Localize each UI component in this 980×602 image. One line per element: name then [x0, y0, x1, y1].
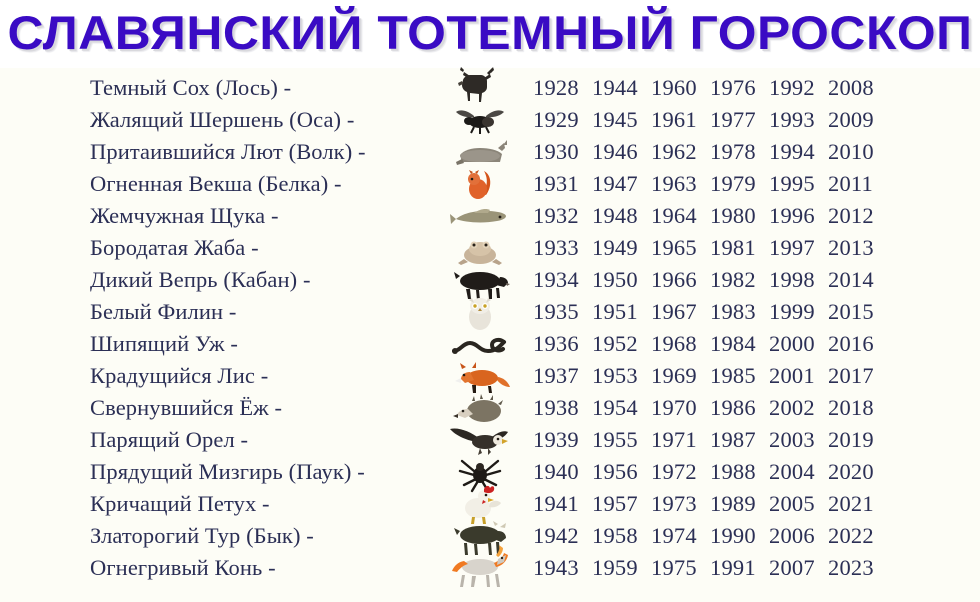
year-value: 1946 — [592, 136, 651, 167]
year-value: 2006 — [769, 520, 828, 551]
year-value: 2001 — [769, 360, 828, 391]
table-row: Жемчужная Щука -193219481964198019962012 — [0, 200, 980, 232]
year-value: 2009 — [828, 104, 887, 135]
year-value: 1937 — [533, 360, 592, 391]
year-value: 1973 — [651, 488, 710, 519]
table-row: Златорогий Тур (Бык) -194219581974199020… — [0, 520, 980, 552]
year-value: 1999 — [769, 296, 828, 327]
year-list: 193719531969198520012017 — [533, 360, 887, 392]
totem-name: Свернувшийся Ёж - — [90, 392, 435, 424]
year-value: 1980 — [710, 200, 769, 231]
year-value: 1964 — [651, 200, 710, 231]
horse-icon-art — [440, 545, 520, 591]
year-value: 1979 — [710, 168, 769, 199]
totem-name: Белый Филин - — [90, 296, 435, 328]
year-value: 2023 — [828, 552, 887, 583]
year-value: 1992 — [769, 72, 828, 103]
year-value: 1986 — [710, 392, 769, 423]
year-value: 1961 — [651, 104, 710, 135]
year-list: 193619521968198420002016 — [533, 328, 887, 360]
page-title: СЛАВЯНСКИЙ ТОТЕМНЫЙ ГОРОСКОП — [0, 4, 980, 62]
year-value: 1960 — [651, 72, 710, 103]
year-list: 193519511967198319992015 — [533, 296, 887, 328]
table-row: Жалящий Шершень (Оса) -19291945196119771… — [0, 104, 980, 136]
year-value: 1977 — [710, 104, 769, 135]
totem-name: Бородатая Жаба - — [90, 232, 435, 264]
year-value: 2003 — [769, 424, 828, 455]
table-row: Крадущийся Лис -193719531969198520012017 — [0, 360, 980, 392]
year-value: 1982 — [710, 264, 769, 295]
totem-name: Притаившийся Лют (Волк) - — [90, 136, 435, 168]
year-value: 2019 — [828, 424, 887, 455]
year-value: 1996 — [769, 200, 828, 231]
year-value: 1932 — [533, 200, 592, 231]
year-value: 1983 — [710, 296, 769, 327]
horse-icon — [440, 545, 520, 591]
year-list: 194019561972198820042020 — [533, 456, 887, 488]
year-list: 193019461962197819942010 — [533, 136, 887, 168]
year-value: 1985 — [710, 360, 769, 391]
year-value: 1974 — [651, 520, 710, 551]
totem-name: Темный Сох (Лось) - — [90, 72, 435, 104]
table-row: Бородатая Жаба -193319491965198119972013 — [0, 232, 980, 264]
table-row: Притаившийся Лют (Волк) -193019461962197… — [0, 136, 980, 168]
year-value: 1956 — [592, 456, 651, 487]
year-value: 1990 — [710, 520, 769, 551]
year-value: 1998 — [769, 264, 828, 295]
year-value: 1969 — [651, 360, 710, 391]
totem-name: Парящий Орел - — [90, 424, 435, 456]
year-value: 1930 — [533, 136, 592, 167]
year-value: 1928 — [533, 72, 592, 103]
year-list: 194119571973198920052021 — [533, 488, 887, 520]
year-value: 1933 — [533, 232, 592, 263]
table-row: Белый Филин -193519511967198319992015 — [0, 296, 980, 328]
year-value: 1944 — [592, 72, 651, 103]
year-value: 1938 — [533, 392, 592, 423]
year-value: 1975 — [651, 552, 710, 583]
year-value: 1971 — [651, 424, 710, 455]
year-value: 1931 — [533, 168, 592, 199]
year-value: 1991 — [710, 552, 769, 583]
year-value: 1981 — [710, 232, 769, 263]
year-value: 1958 — [592, 520, 651, 551]
year-value: 1966 — [651, 264, 710, 295]
year-list: 194219581974199020062022 — [533, 520, 887, 552]
year-value: 2000 — [769, 328, 828, 359]
year-value: 2010 — [828, 136, 887, 167]
year-value: 1936 — [533, 328, 592, 359]
year-value: 2008 — [828, 72, 887, 103]
year-value: 1952 — [592, 328, 651, 359]
table-row: Парящий Орел -193919551971198720032019 — [0, 424, 980, 456]
year-value: 1955 — [592, 424, 651, 455]
year-value: 1941 — [533, 488, 592, 519]
year-value: 2002 — [769, 392, 828, 423]
year-value: 1994 — [769, 136, 828, 167]
year-value: 1997 — [769, 232, 828, 263]
table-row: Огнегривый Конь -19431959197519912007202… — [0, 552, 980, 584]
year-value: 1984 — [710, 328, 769, 359]
year-value: 1963 — [651, 168, 710, 199]
year-value: 1978 — [710, 136, 769, 167]
year-list: 193319491965198119972013 — [533, 232, 887, 264]
year-value: 1950 — [592, 264, 651, 295]
year-value: 1954 — [592, 392, 651, 423]
year-value: 1949 — [592, 232, 651, 263]
totem-name: Крадущийся Лис - — [90, 360, 435, 392]
year-value: 1957 — [592, 488, 651, 519]
year-value: 1947 — [592, 168, 651, 199]
year-value: 1967 — [651, 296, 710, 327]
year-value: 1962 — [651, 136, 710, 167]
year-value: 2005 — [769, 488, 828, 519]
totem-name: Дикий Вепрь (Кабан) - — [90, 264, 435, 296]
table-row: Кричащий Петух -194119571973198920052021 — [0, 488, 980, 520]
year-value: 1995 — [769, 168, 828, 199]
year-value: 1951 — [592, 296, 651, 327]
year-value: 2022 — [828, 520, 887, 551]
year-value: 1988 — [710, 456, 769, 487]
totem-name: Огненная Векша (Белка) - — [90, 168, 435, 200]
year-list: 193919551971198720032019 — [533, 424, 887, 456]
totem-name: Жалящий Шершень (Оса) - — [90, 104, 435, 136]
year-value: 2012 — [828, 200, 887, 231]
totem-name: Кричащий Петух - — [90, 488, 435, 520]
year-value: 1945 — [592, 104, 651, 135]
year-list: 192919451961197719932009 — [533, 104, 887, 136]
table-row: Огненная Векша (Белка) -1931194719631979… — [0, 168, 980, 200]
year-value: 1943 — [533, 552, 592, 583]
year-value: 2014 — [828, 264, 887, 295]
year-value: 1968 — [651, 328, 710, 359]
table-row: Темный Сох (Лось) -192819441960197619922… — [0, 72, 980, 104]
year-value: 2011 — [828, 168, 887, 199]
totem-name: Шипящий Уж - — [90, 328, 435, 360]
year-list: 194319591975199120072023 — [533, 552, 887, 584]
year-value: 2016 — [828, 328, 887, 359]
year-value: 1959 — [592, 552, 651, 583]
totem-name: Прядущий Мизгирь (Паук) - — [90, 456, 435, 488]
year-value: 1972 — [651, 456, 710, 487]
totem-name: Жемчужная Щука - — [90, 200, 435, 232]
table-row: Прядущий Мизгирь (Паук) -194019561972198… — [0, 456, 980, 488]
totem-name: Златорогий Тур (Бык) - — [90, 520, 435, 552]
year-value: 1953 — [592, 360, 651, 391]
table-row: Шипящий Уж -193619521968198420002016 — [0, 328, 980, 360]
year-value: 1942 — [533, 520, 592, 551]
year-value: 1987 — [710, 424, 769, 455]
year-value: 2021 — [828, 488, 887, 519]
year-value: 2015 — [828, 296, 887, 327]
year-list: 193119471963197919952011 — [533, 168, 887, 200]
year-value: 1929 — [533, 104, 592, 135]
year-value: 2017 — [828, 360, 887, 391]
year-value: 2018 — [828, 392, 887, 423]
title-bar: СЛАВЯНСКИЙ ТОТЕМНЫЙ ГОРОСКОП — [0, 0, 980, 68]
year-value: 1976 — [710, 72, 769, 103]
year-value: 1940 — [533, 456, 592, 487]
year-list: 193819541970198620022018 — [533, 392, 887, 424]
year-value: 2013 — [828, 232, 887, 263]
year-list: 193419501966198219982014 — [533, 264, 887, 296]
year-value: 1970 — [651, 392, 710, 423]
table-row: Свернувшийся Ёж -19381954197019862002201… — [0, 392, 980, 424]
year-value: 2020 — [828, 456, 887, 487]
year-list: 192819441960197619922008 — [533, 72, 887, 104]
totem-name: Огнегривый Конь - — [90, 552, 435, 584]
year-value: 1948 — [592, 200, 651, 231]
year-value: 2007 — [769, 552, 828, 583]
horoscope-table: Темный Сох (Лось) -192819441960197619922… — [0, 72, 980, 584]
year-value: 1935 — [533, 296, 592, 327]
year-value: 2004 — [769, 456, 828, 487]
year-list: 193219481964198019962012 — [533, 200, 887, 232]
year-value: 1989 — [710, 488, 769, 519]
year-value: 1965 — [651, 232, 710, 263]
year-value: 1934 — [533, 264, 592, 295]
slavic-totem-horoscope-poster: СЛАВЯНСКИЙ ТОТЕМНЫЙ ГОРОСКОП Темный Сох … — [0, 0, 980, 602]
year-value: 1939 — [533, 424, 592, 455]
year-value: 1993 — [769, 104, 828, 135]
table-row: Дикий Вепрь (Кабан) -1934195019661982199… — [0, 264, 980, 296]
